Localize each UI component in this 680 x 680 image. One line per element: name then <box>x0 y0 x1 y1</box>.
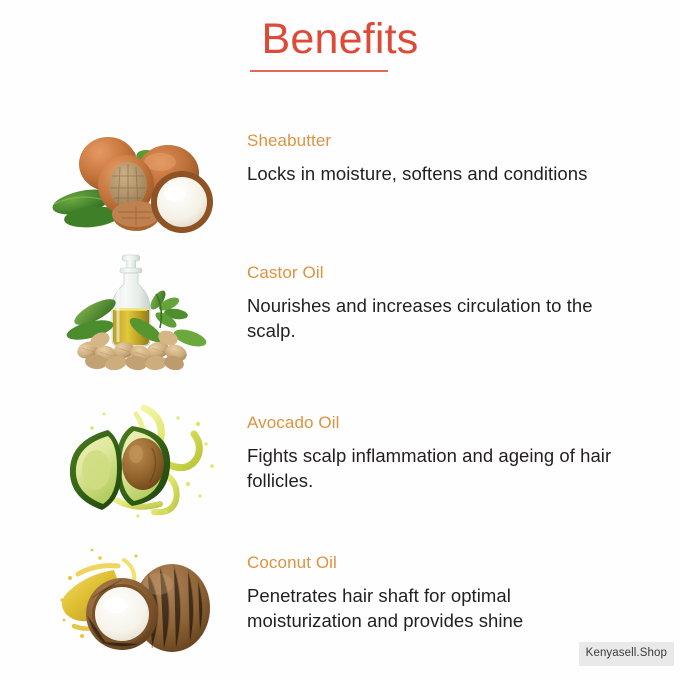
benefit-title: Sheabutter <box>247 130 680 152</box>
benefit-text: Castor Oil Nourishes and increases circu… <box>247 250 680 343</box>
shea-nuts-image <box>48 118 228 238</box>
benefit-row: Avocado Oil Fights scalp inflammation an… <box>0 400 680 520</box>
benefit-body: Nourishes and increases circulation to t… <box>247 293 619 343</box>
benefit-text: Coconut Oil Penetrates hair shaft for op… <box>247 540 680 633</box>
avocado-oil-splash-image <box>48 400 228 520</box>
benefit-row: Sheabutter Locks in moisture, softens an… <box>0 118 680 238</box>
benefit-body: Penetrates hair shaft for optimal moistu… <box>247 583 619 633</box>
benefit-body: Locks in moisture, softens and condition… <box>247 161 619 186</box>
benefit-body: Fights scalp inflammation and ageing of … <box>247 443 619 493</box>
benefit-text: Sheabutter Locks in moisture, softens an… <box>247 118 680 186</box>
page-title: Benefits <box>262 14 419 64</box>
castor-oil-bottle-image <box>48 250 228 370</box>
benefit-title: Avocado Oil <box>247 412 680 434</box>
benefit-text: Avocado Oil Fights scalp inflammation an… <box>247 400 680 493</box>
coconut-oil-splash-image <box>48 540 228 660</box>
benefit-row: Castor Oil Nourishes and increases circu… <box>0 250 680 370</box>
benefits-infographic: Benefits <box>0 0 680 680</box>
benefit-title: Coconut Oil <box>247 552 680 574</box>
page-title-wrap: Benefits <box>0 14 680 64</box>
page-title-underline <box>250 70 388 72</box>
watermark-badge: Kenyasell.Shop <box>579 642 674 666</box>
benefit-title: Castor Oil <box>247 262 680 284</box>
